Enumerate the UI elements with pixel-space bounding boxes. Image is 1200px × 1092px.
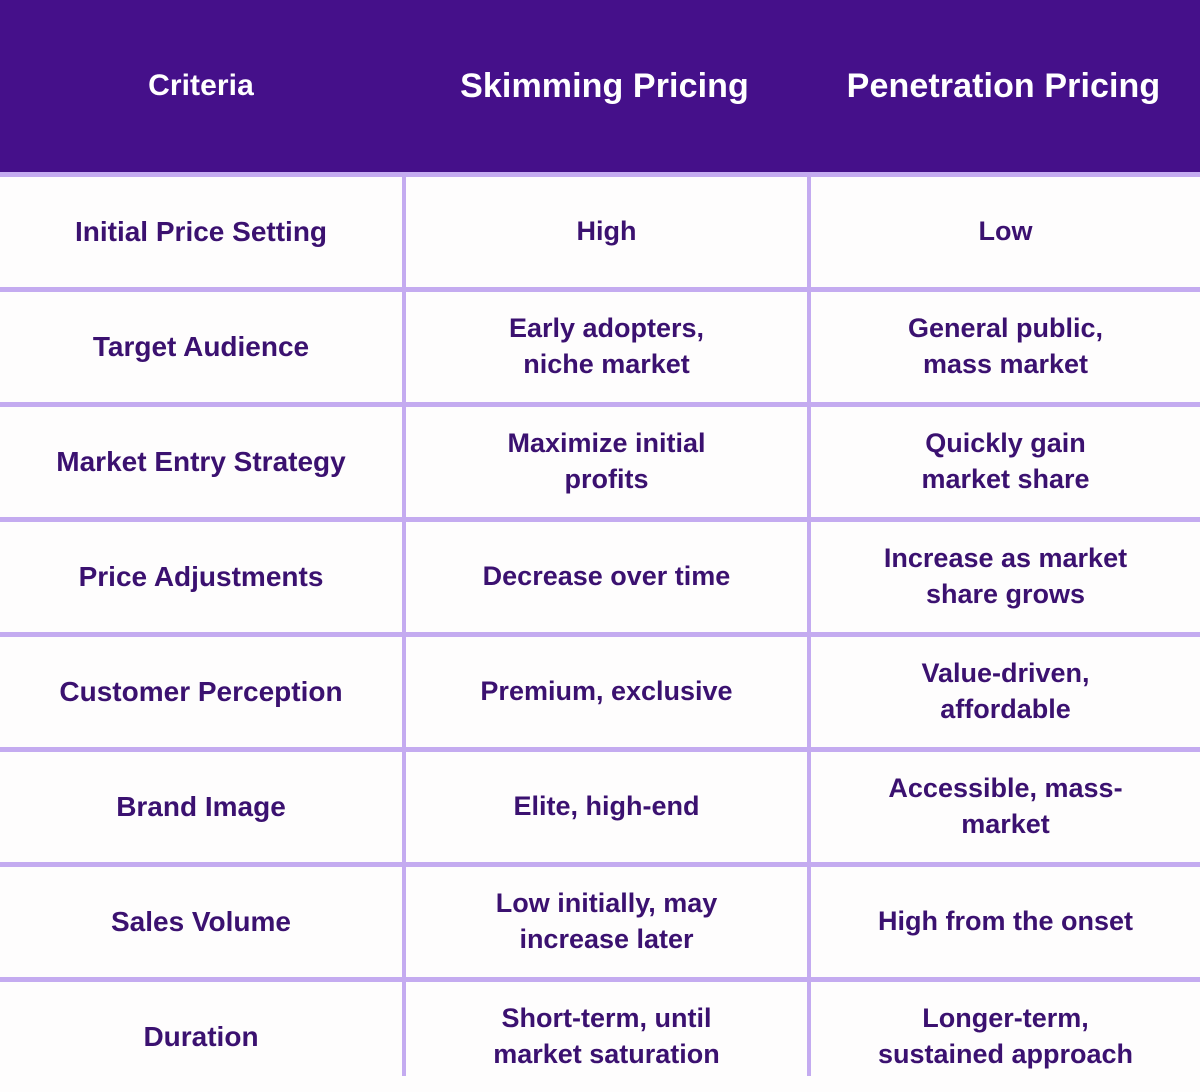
cell-criteria: Price Adjustments [0,522,402,632]
cell-skimming: High [406,177,807,287]
cell-skimming: Decrease over time [406,522,807,632]
table-row: Initial Price Setting High Low [0,177,1200,287]
comparison-table: Criteria Skimming Pricing Penetration Pr… [0,0,1200,1076]
cell-criteria: Customer Perception [0,637,402,747]
cell-penetration: Quickly gain market share [811,407,1200,517]
cell-criteria: Market Entry Strategy [0,407,402,517]
cell-criteria: Brand Image [0,752,402,862]
cell-skimming: Premium, exclusive [406,637,807,747]
cell-penetration: High from the onset [811,867,1200,977]
cell-penetration: Value-driven, affordable [811,637,1200,747]
column-header-penetration-pricing: Penetration Pricing [807,0,1200,172]
cell-criteria: Sales Volume [0,867,402,977]
cell-penetration: Low [811,177,1200,287]
column-header-criteria: Criteria [0,0,402,172]
cell-penetration: General public, mass market [811,292,1200,402]
cell-skimming: Low initially, may increase later [406,867,807,977]
table-row: Target Audience Early adopters, niche ma… [0,292,1200,402]
table-row: Price Adjustments Decrease over time Inc… [0,522,1200,632]
cell-criteria: Initial Price Setting [0,177,402,287]
cell-skimming: Early adopters, niche market [406,292,807,402]
table-header-row: Criteria Skimming Pricing Penetration Pr… [0,0,1200,172]
column-header-skimming-pricing: Skimming Pricing [402,0,807,172]
table-row: Brand Image Elite, high-end Accessible, … [0,752,1200,862]
cell-penetration: Accessible, mass- market [811,752,1200,862]
cell-penetration: Increase as market share grows [811,522,1200,632]
cell-skimming: Elite, high-end [406,752,807,862]
cell-skimming: Maximize initial profits [406,407,807,517]
cell-criteria: Target Audience [0,292,402,402]
table-row: Market Entry Strategy Maximize initial p… [0,407,1200,517]
table-row: Customer Perception Premium, exclusive V… [0,637,1200,747]
table-row: Sales Volume Low initially, may increase… [0,867,1200,977]
table-body: Initial Price Setting High Low Target Au… [0,172,1200,1092]
